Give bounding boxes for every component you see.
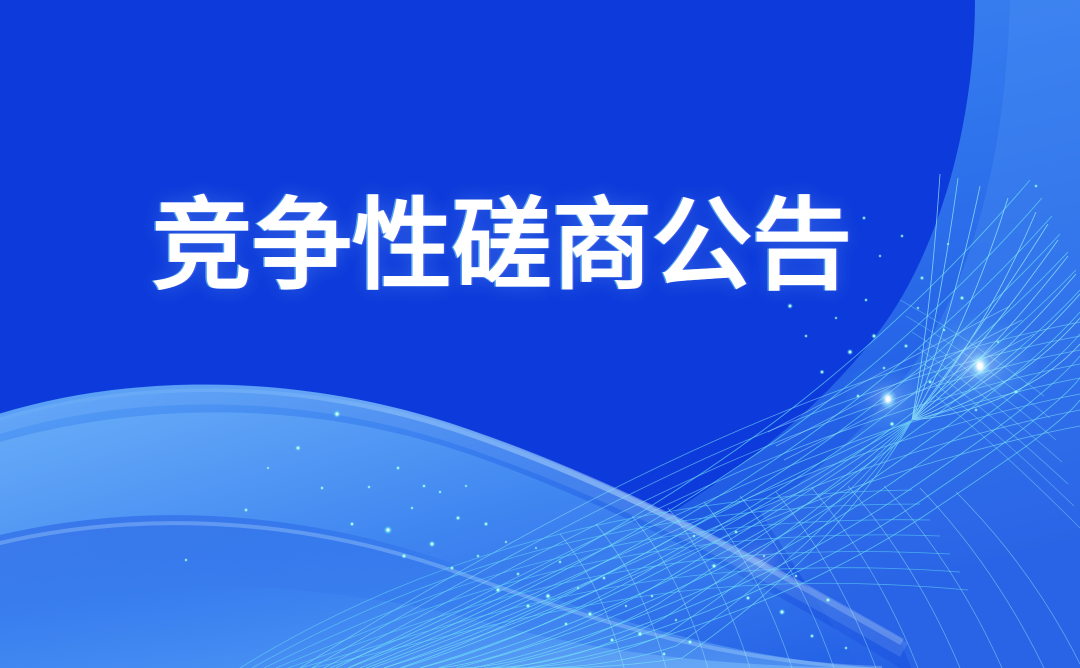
particle	[687, 639, 693, 645]
particle	[889, 421, 895, 427]
particle	[928, 380, 932, 384]
particle	[959, 295, 964, 300]
particle	[438, 490, 442, 494]
particle	[184, 558, 188, 562]
particle	[779, 609, 786, 616]
particle	[587, 611, 593, 617]
particle	[834, 316, 838, 320]
particle	[900, 234, 904, 238]
particle	[504, 540, 508, 544]
particle	[450, 566, 455, 571]
particle	[534, 546, 537, 549]
mesh-hotspot-lower	[704, 516, 816, 604]
particle	[650, 594, 654, 598]
particle	[320, 486, 324, 490]
particle	[464, 484, 468, 488]
particle	[384, 526, 393, 535]
glow-node-bright	[969, 352, 991, 380]
particle	[1034, 184, 1038, 188]
particle	[349, 521, 354, 526]
particle	[916, 306, 920, 310]
particle	[674, 618, 678, 622]
particle	[904, 344, 909, 349]
particle	[810, 634, 815, 639]
particle	[367, 485, 371, 489]
particle	[794, 574, 798, 578]
particle	[946, 242, 950, 246]
background-artwork	[0, 0, 1080, 668]
particle	[762, 554, 766, 558]
particle	[545, 593, 552, 600]
particle	[844, 646, 848, 650]
particle	[734, 530, 738, 534]
particle	[602, 576, 606, 580]
particle	[920, 276, 925, 281]
particle	[295, 445, 301, 451]
glow-node-mid	[879, 388, 897, 410]
particle	[862, 216, 866, 220]
particle	[856, 394, 860, 398]
particle	[864, 298, 868, 302]
particle	[516, 572, 520, 576]
particle	[525, 603, 531, 609]
particle	[878, 254, 882, 258]
particle	[244, 508, 249, 513]
announcement-banner: 竞争性磋商公告	[0, 0, 1080, 668]
particle	[804, 334, 808, 338]
particle	[401, 553, 407, 559]
particle	[476, 554, 480, 558]
particle	[974, 408, 978, 412]
particle	[825, 597, 831, 603]
particle	[882, 366, 886, 370]
particle	[396, 466, 401, 471]
particle	[495, 587, 501, 593]
particle	[637, 631, 643, 637]
particle	[996, 340, 1000, 344]
particle	[847, 349, 853, 355]
particle	[624, 604, 628, 608]
particle	[745, 595, 750, 600]
particle	[428, 540, 435, 547]
particle	[576, 586, 580, 590]
particle	[609, 637, 614, 642]
particle	[942, 328, 946, 332]
particle	[455, 515, 461, 521]
particle	[410, 506, 414, 510]
particle	[711, 563, 717, 569]
particle	[871, 333, 877, 339]
particle	[333, 410, 341, 418]
particle	[558, 560, 562, 564]
particle	[483, 521, 488, 526]
particle	[819, 369, 824, 374]
particle	[787, 303, 793, 309]
particle	[422, 484, 426, 488]
particle	[1014, 390, 1018, 394]
particle	[692, 534, 696, 538]
particle	[564, 622, 569, 627]
particle	[662, 652, 667, 657]
particle	[266, 466, 270, 470]
